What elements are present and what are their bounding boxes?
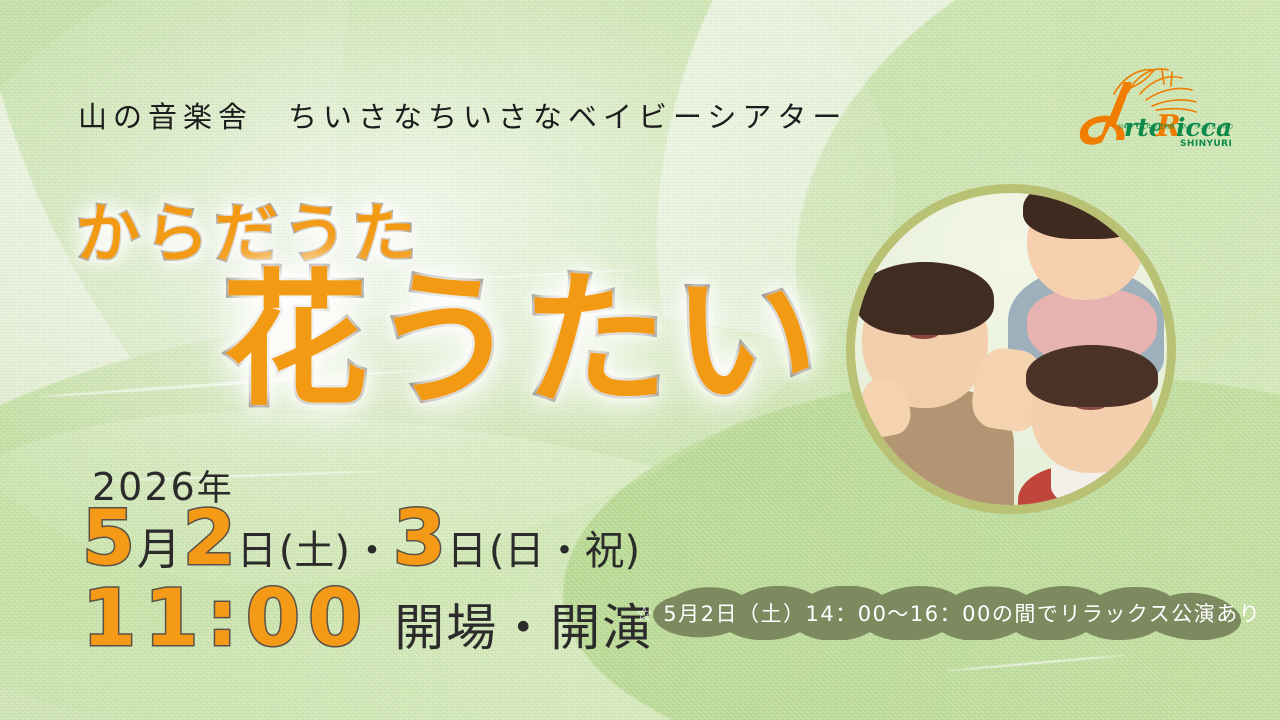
subtitle-text: 山の音楽舎 ちいさなちいさなベイビーシアター	[78, 94, 938, 136]
banner-text: ☆ 5月2日（土）14：00〜16：00の間でリラックス公演あり	[642, 586, 1254, 640]
logo-artwork: rte R icca SHINYURI	[1068, 58, 1238, 154]
svg-text:SHINYURI: SHINYURI	[1180, 139, 1232, 149]
title-main: 花うたい	[222, 268, 822, 414]
day1-weekday: (土)	[279, 531, 350, 571]
baby-hair	[856, 262, 994, 335]
day1-number: 2	[183, 500, 236, 576]
artericca-logo: rte R icca SHINYURI 川崎・しんゆり芸術祭 アルテリッカしんゆ…	[1068, 58, 1238, 154]
day1-unit: 日	[237, 531, 277, 571]
day2-unit: 日	[447, 531, 487, 571]
relax-performance-banner: ☆ 5月2日（土）14：00〜16：00の間でリラックス公演あり	[642, 586, 1254, 640]
photo-circle-frame	[846, 184, 1176, 514]
time-label: 開場・開演	[394, 603, 654, 653]
day2-number: 3	[393, 500, 446, 576]
time-line: 11:00 開場・開演	[82, 580, 654, 658]
date-line: 5 月 2 日 (土) ・ 3 日 (日・祝)	[82, 500, 641, 576]
date-separator: ・	[352, 531, 392, 571]
day2-weekday: (日・祝)	[489, 531, 640, 571]
poster-root: 山の音楽舎 ちいさなちいさなベイビーシアター rte	[0, 0, 1280, 720]
baby-hair	[1023, 193, 1150, 239]
babies-photo	[855, 193, 1167, 505]
month-unit: 月	[137, 528, 181, 572]
month-number: 5	[82, 500, 135, 576]
baby-bottom-right	[1011, 349, 1167, 505]
logo-subtext: 川崎・しんゆり芸術祭 アルテリッカしんゆり	[1118, 122, 1234, 131]
time-value: 11:00	[82, 580, 370, 658]
baby-hair	[1026, 345, 1157, 407]
